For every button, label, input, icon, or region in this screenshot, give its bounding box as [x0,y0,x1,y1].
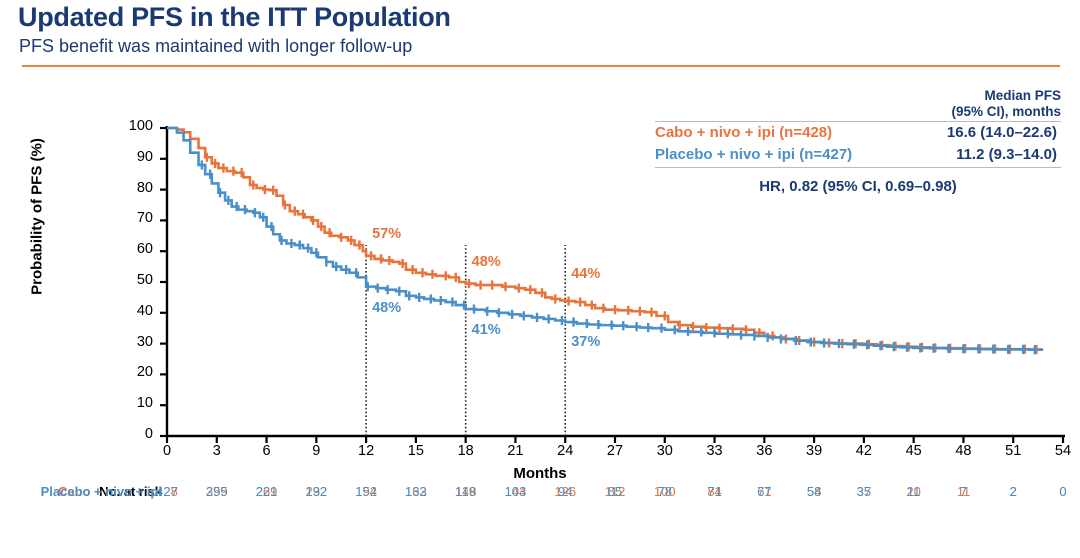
risk-value: 78 [645,484,685,499]
risk-value: 221 [247,484,287,499]
risk-value: 295 [197,484,237,499]
km-plot: Probability of PFS (%) Months 0102030405… [0,0,1080,558]
x-tick-label-24: 24 [545,443,585,459]
x-tick-label-12: 12 [346,443,386,459]
risk-value: 133 [396,484,436,499]
risk-value: 71 [695,484,735,499]
annotation-57pct-month-12: 57% [372,226,401,242]
y-tick-label-70: 70 [115,210,153,226]
x-tick-label-54: 54 [1043,443,1080,459]
risk-value: 35 [844,484,884,499]
risk-value: 192 [296,484,336,499]
risk-value: 58 [794,484,834,499]
x-tick-label-45: 45 [894,443,934,459]
x-tick-label-3: 3 [197,443,237,459]
risk-value: 7 [943,484,983,499]
risk-value: 427 [147,484,187,499]
x-tick-label-9: 9 [296,443,336,459]
km-curve-placebo [167,128,1043,350]
x-tick-label-36: 36 [744,443,784,459]
x-tick-label-33: 33 [695,443,735,459]
y-tick-label-10: 10 [115,395,153,411]
risk-value: 85 [595,484,635,499]
x-tick-label-42: 42 [844,443,884,459]
risk-row-label-placebo: Placebo + nivo + ipi [0,484,162,499]
annotation-48pct-month-12: 48% [372,300,401,316]
y-tick-label-0: 0 [115,426,153,442]
risk-value: 94 [545,484,585,499]
x-tick-label-6: 6 [247,443,287,459]
risk-value: 154 [346,484,386,499]
y-tick-label-100: 100 [115,118,153,134]
annotation-48pct-month-18: 48% [472,254,501,270]
annotation-37pct-month-24: 37% [571,334,600,350]
x-tick-label-15: 15 [396,443,436,459]
y-tick-label-20: 20 [115,364,153,380]
x-tick-label-21: 21 [495,443,535,459]
y-tick-label-90: 90 [115,149,153,165]
y-tick-label-60: 60 [115,241,153,257]
annotation-41pct-month-18: 41% [472,322,501,338]
y-tick-label-50: 50 [115,272,153,288]
x-axis-label: Months [0,465,1080,482]
y-tick-label-80: 80 [115,180,153,196]
risk-value: 11 [894,484,934,499]
x-tick-label-39: 39 [794,443,834,459]
annotation-44pct-month-24: 44% [571,266,600,282]
x-tick-label-30: 30 [645,443,685,459]
risk-value: 0 [1043,484,1080,499]
km-curve-cabo [167,128,1043,349]
risk-value: 103 [495,484,535,499]
y-tick-label-40: 40 [115,303,153,319]
y-tick-label-30: 30 [115,334,153,350]
x-tick-label-0: 0 [147,443,187,459]
x-tick-label-48: 48 [943,443,983,459]
risk-value: 119 [446,484,486,499]
risk-value: 67 [744,484,784,499]
x-tick-label-18: 18 [446,443,486,459]
x-tick-label-27: 27 [595,443,635,459]
x-tick-label-51: 51 [993,443,1033,459]
y-axis-label: Probability of PFS (%) [29,102,46,332]
risk-value: 2 [993,484,1033,499]
